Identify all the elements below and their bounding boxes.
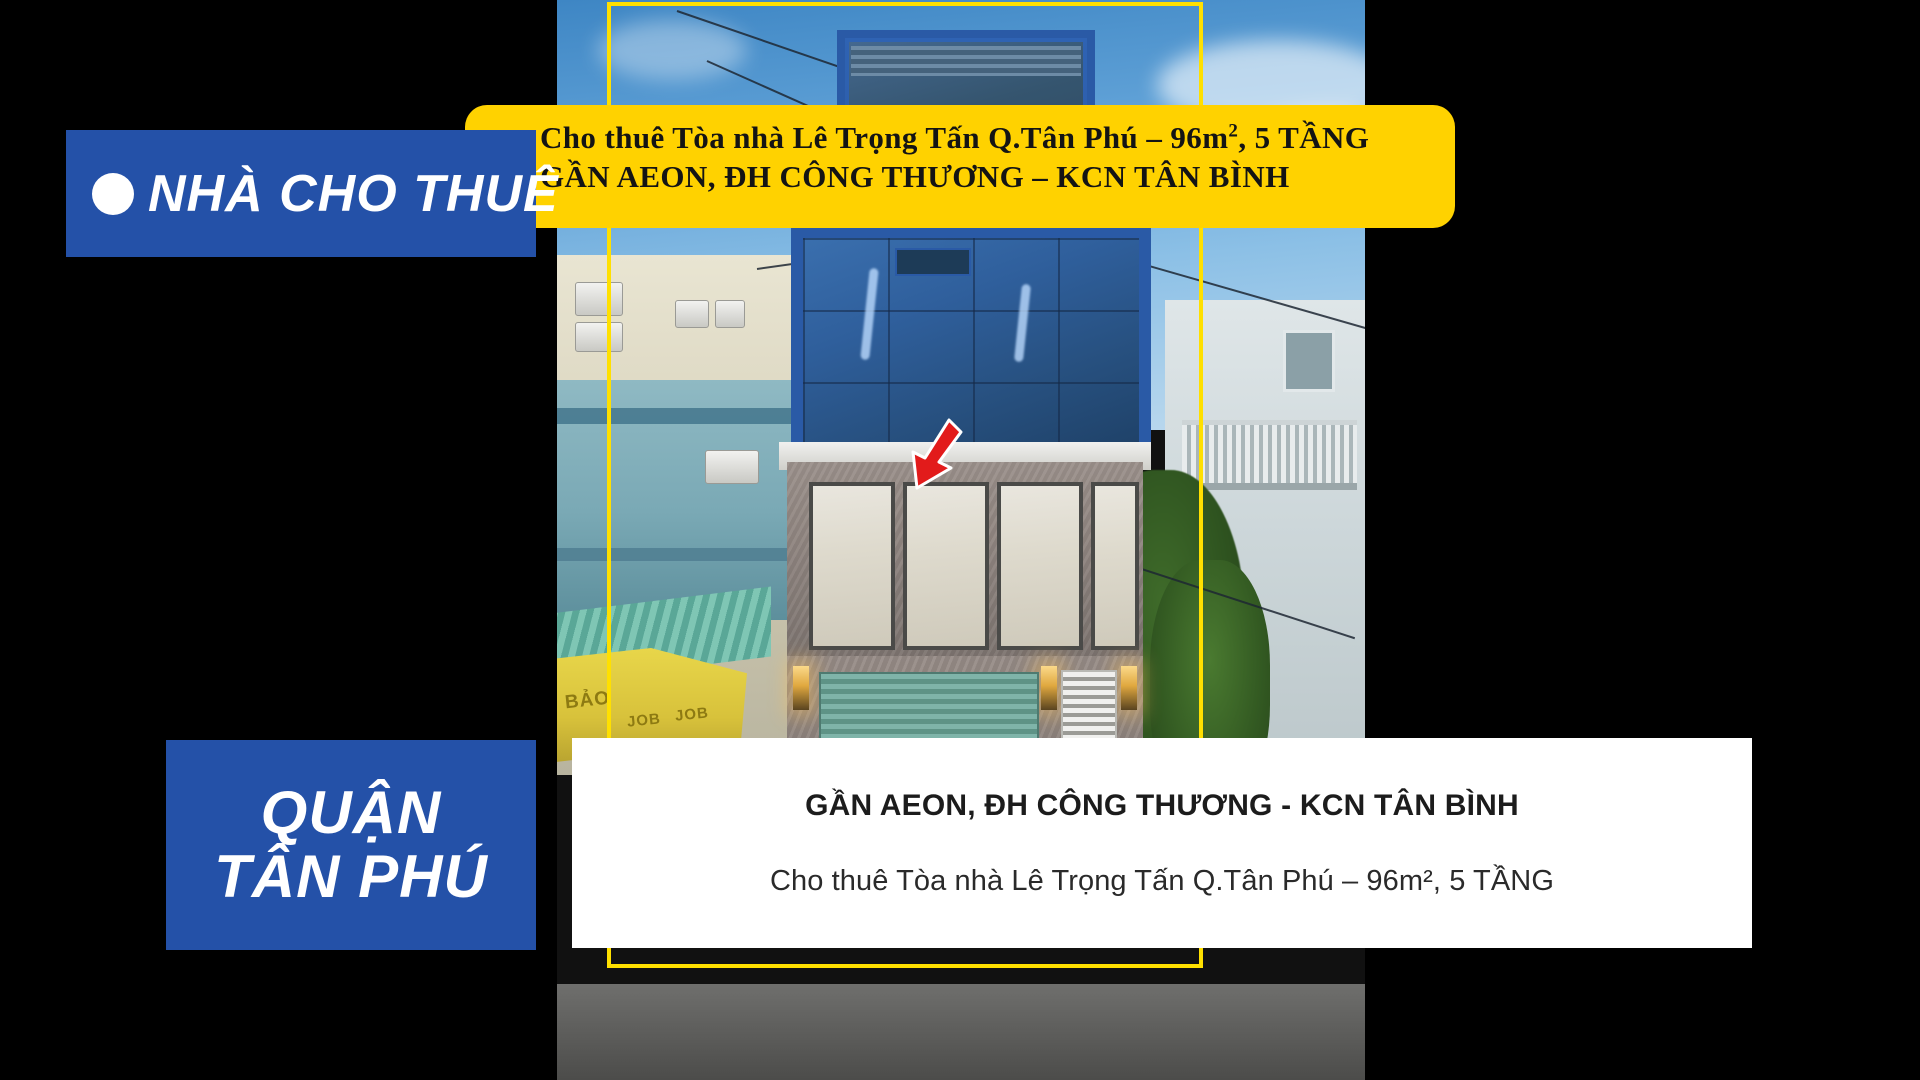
umbrella-text: JOB bbox=[626, 710, 661, 730]
left-neighbour-band bbox=[557, 548, 795, 561]
caption-subtitle: Cho thuê Tòa nhà Lê Trọng Tấn Q.Tân Phú … bbox=[770, 865, 1554, 898]
top-floor-louvre bbox=[851, 46, 1081, 76]
glass-mullion-grid bbox=[803, 238, 1139, 444]
square-meter-superscript: 2 bbox=[1228, 121, 1238, 142]
yellow-headline-banner: Cho thuê Tòa nhà Lê Trọng Tấn Q.Tân Phú … bbox=[465, 105, 1455, 228]
yellow-banner-line-1-pre: Cho thuê Tòa nhà Lê Trọng Tấn Q.Tân Phú … bbox=[540, 120, 1228, 155]
air-conditioner-unit bbox=[575, 282, 623, 316]
badge-nha-cho-thue[interactable]: NHÀ CHO THUÊ bbox=[66, 130, 536, 257]
air-conditioner-unit bbox=[575, 322, 623, 352]
badge-quan-tan-phu[interactable]: QUẬN TÂN PHÚ bbox=[166, 740, 536, 950]
neighbour-window bbox=[1283, 330, 1335, 392]
ground-window bbox=[809, 482, 895, 650]
badge-bottom-line-2: TÂN PHÚ bbox=[214, 845, 488, 909]
window-frame bbox=[715, 300, 745, 328]
badge-bottom-line-1: QUẬN bbox=[261, 781, 442, 845]
poster-canvas: BẢO JOB JOB bbox=[0, 0, 1920, 1080]
caption-panel: GẦN AEON, ĐH CÔNG THƯƠNG - KCN TÂN BÌNH … bbox=[572, 738, 1752, 948]
ground-window bbox=[1091, 482, 1139, 650]
umbrella-text: JOB bbox=[674, 704, 709, 724]
ground-window bbox=[997, 482, 1083, 650]
badge-top-label: NHÀ CHO THUÊ bbox=[148, 164, 559, 224]
caption-title: GẦN AEON, ĐH CÔNG THƯƠNG - KCN TÂN BÌNH bbox=[805, 789, 1519, 823]
air-conditioner-unit bbox=[705, 450, 759, 484]
openable-vent bbox=[895, 248, 971, 276]
yellow-banner-line-1-post: , 5 TẦNG bbox=[1238, 120, 1369, 155]
street-pavement bbox=[557, 984, 1365, 1080]
ground-window bbox=[903, 482, 989, 650]
window-frame bbox=[675, 300, 709, 328]
wall-lamp bbox=[1041, 666, 1057, 710]
yellow-banner-line-1: Cho thuê Tòa nhà Lê Trọng Tấn Q.Tân Phú … bbox=[540, 119, 1429, 158]
red-arrow-icon bbox=[905, 418, 965, 490]
wall-lamp bbox=[1121, 666, 1137, 710]
yellow-banner-line-2: GẦN AEON, ĐH CÔNG THƯƠNG – KCN TÂN BÌNH bbox=[540, 158, 1429, 197]
curtain-wall-glass bbox=[791, 226, 1151, 456]
cloud-shape bbox=[597, 20, 747, 80]
left-neighbour-band bbox=[557, 408, 795, 424]
balcony-railing bbox=[1182, 420, 1357, 490]
umbrella-text: BẢO bbox=[564, 688, 611, 715]
filled-circle-icon bbox=[92, 173, 134, 215]
wall-lamp bbox=[793, 666, 809, 710]
